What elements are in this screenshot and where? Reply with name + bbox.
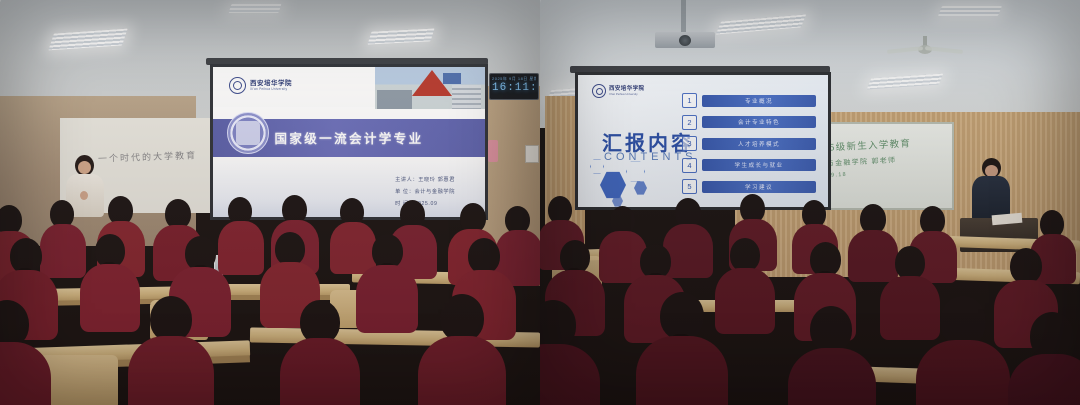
campus-photo (375, 67, 485, 109)
photo-collage: 一个时代的大学教育 2025年 9月 18日 星期四 16:11:51 (0, 0, 1080, 405)
logo-emblem-icon (592, 84, 606, 98)
ceiling-light-panel (938, 6, 1002, 16)
wall-poster (488, 140, 498, 162)
slide-title: 西安培华学院 Xi'an Peihua University 国家级一流会计学专… (213, 67, 485, 217)
projector-lens-icon (679, 35, 691, 46)
presenter-face (78, 161, 91, 174)
item-number: 5 (682, 179, 697, 194)
item-label: 人才培养模式 (702, 138, 816, 150)
list-item[interactable]: 3 人才培养模式 (682, 136, 816, 151)
title-band: 国家级一流会计学专业 (213, 119, 485, 157)
item-label: 专业概况 (702, 95, 816, 107)
university-logo: 西安培华学院 Xi'an Peihua University (592, 84, 644, 98)
item-label: 学习建议 (702, 181, 816, 193)
led-clock-panel: 2025年 9月 18日 星期四 16:11:51 (489, 73, 539, 100)
ceiling-fan (895, 36, 955, 58)
item-number: 3 (682, 136, 697, 151)
ceiling-projector (655, 0, 715, 52)
presenter-hand (80, 191, 88, 200)
logo-emblem-icon (229, 77, 246, 94)
slide-title-text: 国家级一流会计学专业 (213, 128, 485, 147)
chair (40, 355, 118, 405)
ceiling-light-panel (229, 4, 282, 13)
slide-contents: 西安培华学院 Xi'an Peihua University 汇报内容 CONT… (578, 75, 828, 207)
logo-text-en: Xi'an Peihua University (609, 92, 644, 96)
flag (443, 73, 461, 84)
item-number: 1 (682, 93, 697, 108)
list-item[interactable]: 5 学习建议 (682, 179, 816, 194)
list-item[interactable]: 4 学生成长与就业 (682, 158, 816, 173)
list-item[interactable]: 2 会计专业特色 (682, 115, 816, 130)
clock-time: 16:11:51 (492, 82, 536, 94)
logo-text-cn: 西安培华学院 (609, 86, 644, 93)
university-logo: 西安培华学院 Xi'an Peihua University (229, 77, 292, 94)
item-number: 4 (682, 158, 697, 173)
meta-presenter: 主讲人：王晓玲 郭惠君 (395, 175, 455, 187)
projection-screen-right: 西安培华学院 Xi'an Peihua University 汇报内容 CONT… (575, 72, 831, 210)
logo-text-en: Xi'an Peihua University (250, 87, 292, 91)
item-label: 学生成长与就业 (702, 159, 816, 171)
meta-department: 单 位：会计与金融学院 (395, 187, 455, 199)
left-classroom-photo: 一个时代的大学教育 2025年 9月 18日 星期四 16:11:51 (0, 0, 540, 405)
logo-text-cn: 西安培华学院 (250, 80, 292, 87)
list-item[interactable]: 1 专业概况 (682, 93, 816, 108)
projector-pole (681, 0, 686, 34)
item-label: 会计专业特色 (702, 116, 816, 128)
building-a (377, 90, 412, 109)
item-number: 2 (682, 115, 697, 130)
building-b (452, 85, 481, 109)
light-switch[interactable] (525, 145, 539, 163)
right-classroom-photo: 2025级新生入学教育 会计与金融学院 郭老师 2025.9.18 西安培华学院… (540, 0, 1080, 405)
projection-screen-left: 西安培华学院 Xi'an Peihua University 国家级一流会计学专… (210, 64, 488, 220)
contents-list: 1 专业概况 2 会计专业特色 3 人才培养模式 4 学生成长与就业 (682, 93, 816, 201)
